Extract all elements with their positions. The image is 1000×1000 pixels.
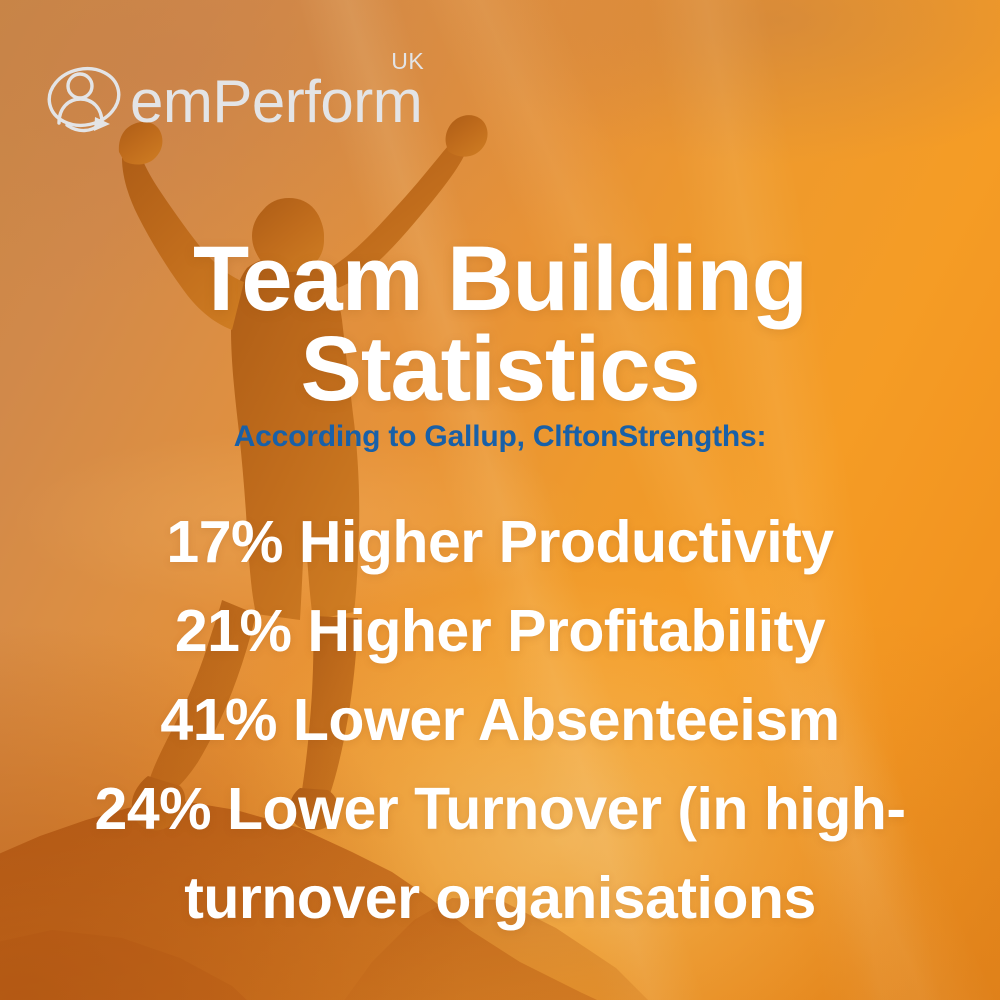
- person-in-cycle-icon: [42, 61, 128, 137]
- statistic-item: 41% Lower Absenteeism: [0, 676, 1000, 765]
- logo-wordmark-group: emPerform UK: [130, 72, 422, 132]
- statistic-item: 24% Lower Turnover (in high-: [0, 765, 1000, 854]
- statistic-item: 21% Higher Profitability: [0, 587, 1000, 676]
- statistics-list: 17% Higher Productivity 21% Higher Profi…: [0, 498, 1000, 943]
- logo-wordmark-text: emPerform: [130, 68, 422, 135]
- page-title: Team Building Statistics: [0, 234, 1000, 414]
- source-attribution: According to Gallup, ClftonStrengths:: [0, 420, 1000, 454]
- brand-logo[interactable]: emPerform UK: [42, 58, 422, 140]
- statistic-item: turnover organisations: [0, 854, 1000, 943]
- page-title-line-2: Statistics: [0, 324, 1000, 414]
- statistic-item: 17% Higher Productivity: [0, 498, 1000, 587]
- poster-canvas: emPerform UK Team Building Statistics Ac…: [0, 0, 1000, 1000]
- page-title-line-1: Team Building: [0, 234, 1000, 324]
- logo-superscript-uk: UK: [391, 50, 424, 73]
